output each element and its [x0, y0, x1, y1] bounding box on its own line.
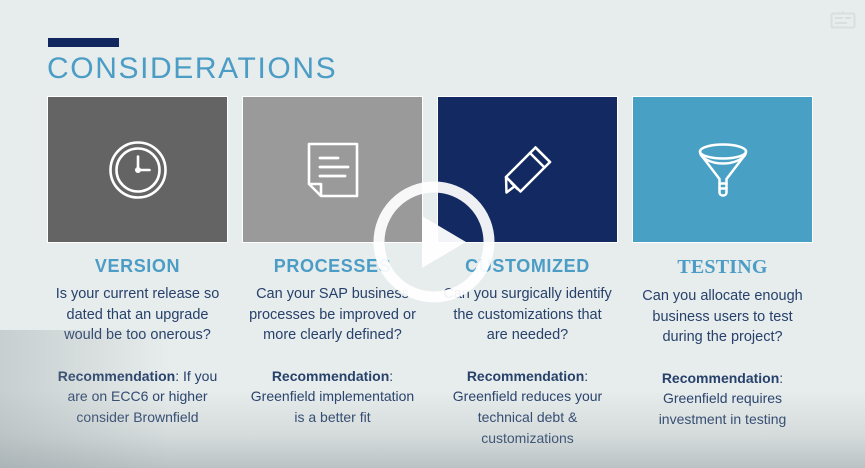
- pencil-icon: [497, 139, 559, 201]
- column-title: VERSION: [47, 256, 228, 277]
- recommendation-text: Greenfield reduces your technical debt &…: [453, 388, 602, 445]
- recommendation-separator: :: [389, 368, 393, 384]
- recommendation-separator: :: [175, 368, 179, 384]
- tile-testing: [632, 96, 813, 243]
- recommendation-label: Recommendation: [662, 370, 779, 386]
- column-recommendation: Recommendation: If you are on ECC6 or hi…: [47, 366, 228, 428]
- video-slide: CONSIDERATIONS VERSION Is your current r…: [0, 0, 865, 468]
- clock-icon: [107, 139, 169, 201]
- column-description: Is your current release so dated that an…: [47, 284, 228, 346]
- recommendation-label: Recommendation: [272, 368, 389, 384]
- recommendation-label: Recommendation: [467, 368, 584, 384]
- page-title: CONSIDERATIONS: [47, 52, 337, 86]
- recommendation-label: Recommendation: [58, 368, 175, 384]
- column-description: Can you allocate enough business users t…: [632, 286, 813, 348]
- recommendation-separator: :: [779, 370, 783, 386]
- funnel-icon: [691, 139, 755, 201]
- column-title: TESTING: [632, 256, 813, 279]
- tile-version: [47, 96, 228, 243]
- consideration-column-testing: TESTING Can you allocate enough business…: [632, 96, 813, 448]
- recommendation-text: Greenfield implementation is a better fi…: [251, 388, 414, 425]
- document-icon: [305, 141, 361, 199]
- consideration-column-version: VERSION Is your current release so dated…: [47, 96, 228, 448]
- recommendation-separator: :: [584, 368, 588, 384]
- column-recommendation: Recommendation: Greenfield reduces your …: [437, 366, 618, 448]
- column-recommendation: Recommendation: Greenfield implementatio…: [242, 366, 423, 428]
- column-recommendation: Recommendation: Greenfield requires inve…: [632, 368, 813, 430]
- recommendation-text: Greenfield requires investment in testin…: [659, 390, 787, 427]
- closed-captions-icon[interactable]: [830, 10, 856, 29]
- play-button[interactable]: [369, 177, 499, 307]
- title-accent-bar: [48, 38, 119, 47]
